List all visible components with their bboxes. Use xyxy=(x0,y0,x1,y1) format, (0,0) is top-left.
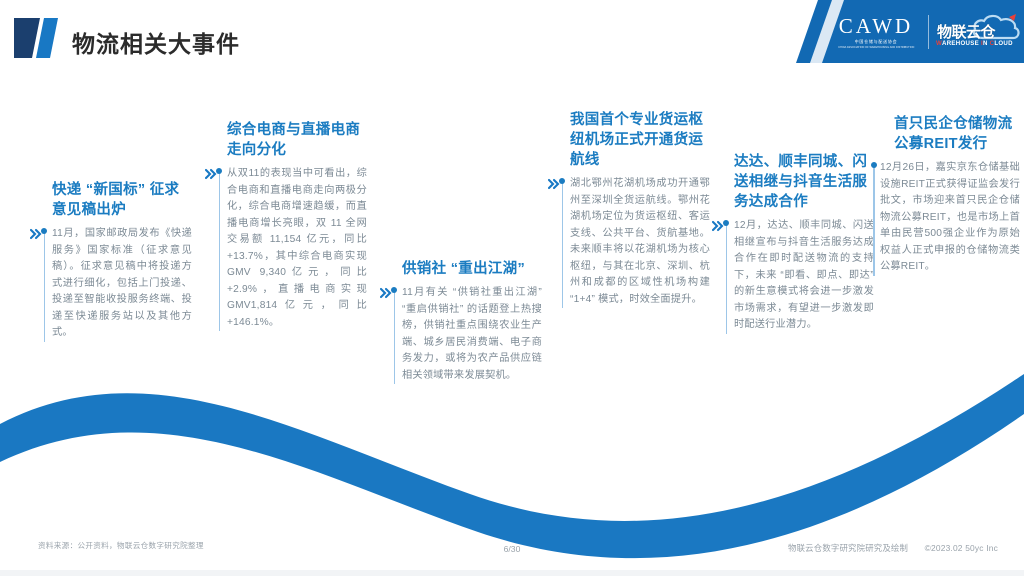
event-body-3: 11月有关 “供销社重出江湖” “重启供销社” 的话题登上热搜榜，供销社重点围绕… xyxy=(402,285,542,384)
event-heading-1: 快递 “新国标” 征求意见稿出炉 xyxy=(30,180,192,220)
wic-en-arehouse: AREHOUSE xyxy=(942,40,981,47)
timeline-dot xyxy=(41,228,47,234)
banner-divider xyxy=(928,15,929,49)
event-heading-4: 我国首个专业货运枢纽机场正式开通货运航线 xyxy=(548,110,710,170)
cawd-logo: CAWD 中国仓储与配送协会 CHINA ASSOCIATION OF WARE… xyxy=(826,15,922,49)
event-body-4: 湖北鄂州花湖机场成功开通鄂州至深圳全货运航线。鄂州花湖机场定位为货运枢纽、客运支… xyxy=(570,176,710,308)
cawd-english-name: CHINA ASSOCIATION OF WAREHOUSING AND DIS… xyxy=(838,45,913,48)
cawd-wordmark: CAWD xyxy=(830,15,922,37)
timeline-stem xyxy=(44,233,46,342)
event-card-5[interactable]: 达达、顺丰同城、闪送相继与抖音生活服务达成合作 12月，达达、顺丰同城、闪送相继… xyxy=(712,152,874,334)
bottom-rule xyxy=(0,570,1024,576)
wic-english-tagline: WAREHOUSE IN CLOUD xyxy=(936,40,1013,47)
timeline-dot xyxy=(391,287,397,293)
double-chevron-icon xyxy=(548,177,560,189)
cawd-chinese-name: 中国仓储与配送协会 xyxy=(832,39,919,45)
event-heading-5: 达达、顺丰同城、闪送相继与抖音生活服务达成合作 xyxy=(712,152,874,212)
footer-credit-block: 物联云仓数字研究院研究及绘制 ©2023.02 50yc Inc xyxy=(788,542,998,554)
double-chevron-icon xyxy=(712,219,724,231)
footer-copyright: ©2023.02 50yc Inc xyxy=(925,543,998,553)
footer-credit: 物联云仓数字研究院研究及绘制 xyxy=(788,543,908,553)
slide-canvas: 物流相关大事件 CAWD 中国仓储与配送协会 CHINA ASSOCIATION… xyxy=(0,0,1024,576)
timeline-stem xyxy=(726,225,728,334)
wic-en-n: N xyxy=(983,40,990,47)
event-body-2: 从双11的表现当中可看出，综合电商和直播电商走向两极分化，综合电商增速趋缓，而直… xyxy=(227,166,367,331)
slanted-bars-logo-icon xyxy=(14,12,66,64)
event-card-2[interactable]: 综合电商与直播电商走向分化 从双11的表现当中可看出，综合电商和直播电商走向两极… xyxy=(205,120,367,331)
timeline-marker-1 xyxy=(30,226,52,342)
timeline-stem xyxy=(562,183,564,308)
event-card-6[interactable]: 首只民企仓储物流公募REIT发行 12月26日，嘉实京东仓储基础设施REIT正式… xyxy=(872,114,1020,276)
double-chevron-icon xyxy=(205,167,217,179)
event-card-4[interactable]: 我国首个专业货运枢纽机场正式开通货运航线 湖北鄂州花湖机场成功开通鄂州至深圳全货… xyxy=(548,110,710,308)
timeline-dot xyxy=(559,178,565,184)
brand-banner: CAWD 中国仓储与配送协会 CHINA ASSOCIATION OF WARE… xyxy=(796,0,1024,63)
double-chevron-icon xyxy=(30,227,42,239)
event-heading-3: 供销社 “重出江湖” xyxy=(380,259,542,279)
timeline-marker-3 xyxy=(380,285,402,384)
timeline-dot xyxy=(216,168,222,174)
event-body-6: 12月26日，嘉实京东仓储基础设施REIT正式获得证监会发行批文，市场迎来首只民… xyxy=(880,160,1020,276)
wic-en-loud: LOUD xyxy=(994,40,1012,47)
event-card-1[interactable]: 快递 “新国标” 征求意见稿出炉 11月，国家邮政局发布《快递服务》国家标准（征… xyxy=(30,180,192,342)
event-body-5: 12月，达达、顺丰同城、闪送相继宣布与抖音生活服务达成合作在即时配送物流的支持下… xyxy=(734,218,874,334)
timeline-stem xyxy=(394,292,396,384)
timeline-marker-5 xyxy=(712,218,734,334)
event-body-1: 11月，国家邮政局发布《快递服务》国家标准（征求意见稿）。征求意见稿中将投递方式… xyxy=(52,226,192,342)
event-heading-6: 首只民企仓储物流公募REIT发行 xyxy=(872,114,1020,154)
timeline-stem xyxy=(873,167,875,276)
timeline-marker-2 xyxy=(205,166,227,331)
page-title: 物流相关大事件 xyxy=(72,25,240,59)
event-card-3[interactable]: 供销社 “重出江湖” 11月有关 “供销社重出江湖” “重启供销社” 的话题登上… xyxy=(380,259,542,384)
timeline-marker-6 xyxy=(872,160,894,276)
timeline-columns: 快递 “新国标” 征求意见稿出炉 11月，国家邮政局发布《快递服务》国家标准（征… xyxy=(0,74,1024,494)
double-chevron-icon xyxy=(380,286,392,298)
wic-chinese-name: 物联云仓 xyxy=(937,21,995,42)
warehouse-in-cloud-logo: 物联云仓 WAREHOUSE IN CLOUD xyxy=(935,8,1024,56)
timeline-marker-4 xyxy=(548,176,570,308)
timeline-stem xyxy=(219,173,221,331)
timeline-dot xyxy=(723,220,729,226)
event-heading-2: 综合电商与直播电商走向分化 xyxy=(205,120,367,160)
timeline-dot xyxy=(871,162,877,168)
